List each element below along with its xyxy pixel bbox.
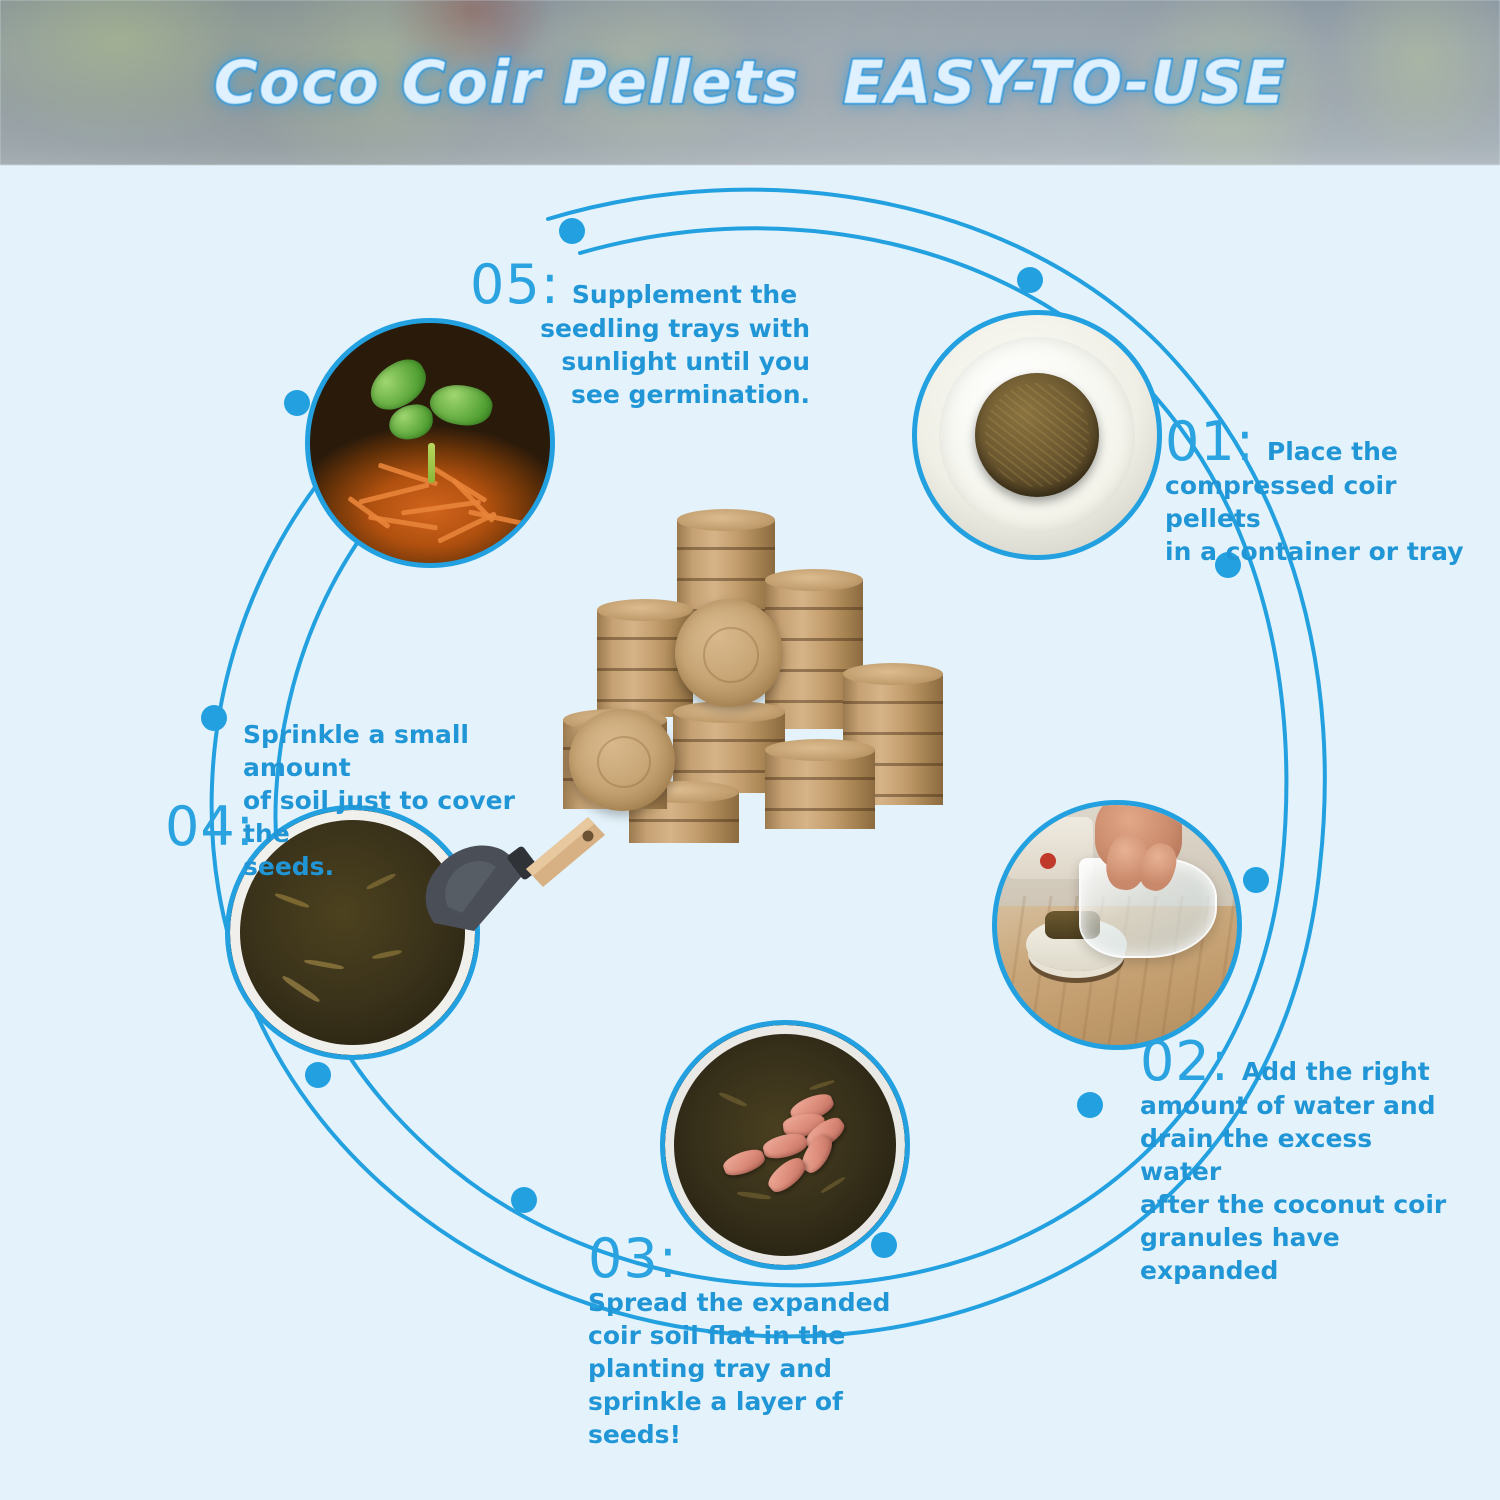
step-05-number: 05: [470, 258, 560, 312]
step-02-line-4: after the coconut coir [1140, 1188, 1460, 1221]
flow-dot-02-bottom [1077, 1092, 1103, 1118]
step-02-line-3: drain the excess water [1140, 1122, 1460, 1188]
banner-title-container: Coco Coir Pellets EASY-TO-USE [0, 0, 1500, 165]
step-photo-03-image [665, 1025, 905, 1265]
coir-pellet-stack [765, 739, 875, 829]
compressed-coir-pellet [975, 373, 1100, 498]
step-05-line-1: Supplement the [572, 278, 797, 311]
step-02-number: 02: [1140, 1035, 1230, 1089]
coir-pellet-disc [675, 599, 783, 707]
step-05-line-2: seedling trays with [470, 312, 810, 345]
step-03-line-4: sprinkle a layer of [588, 1385, 908, 1418]
step-01-text: 01: Place the compressed coir pellets in… [1165, 415, 1465, 568]
step-03-line-3: planting tray and [588, 1352, 908, 1385]
step-02-line-5: granules have [1140, 1221, 1460, 1254]
flow-dot-04-bottom [305, 1062, 331, 1088]
step-photo-02 [992, 800, 1242, 1050]
step-01-line-3: in a container or tray [1165, 535, 1465, 568]
step-02-line-2: amount of water and [1140, 1089, 1460, 1122]
step-03-line-5: seeds! [588, 1418, 908, 1451]
step-02-text: 02: Add the right amount of water and dr… [1140, 1035, 1460, 1287]
step-01-number: 01: [1165, 415, 1255, 469]
coir-pellet-disc [569, 709, 675, 811]
step-04-number: 04: [165, 800, 255, 854]
step-03-line-2: coir soil flat in the [588, 1319, 908, 1352]
flow-dot-05-top [559, 218, 585, 244]
step-01-line-2: compressed coir pellets [1165, 469, 1465, 535]
step-02-line-6: expanded [1140, 1254, 1460, 1287]
page-title: Coco Coir Pellets EASY-TO-USE [214, 48, 1287, 118]
step-02-line-1: Add the right [1242, 1055, 1430, 1088]
step-03-number: 03: [588, 1232, 908, 1286]
step-01-line-1: Place the [1267, 435, 1398, 468]
step-03-line-1: Spread the expanded [588, 1286, 908, 1319]
step-04-line-1: Sprinkle a small amount [165, 718, 565, 784]
center-product-image [565, 495, 985, 885]
step-photo-02-image [997, 805, 1237, 1045]
step-05-text: 05: Supplement the seedling trays with s… [470, 258, 810, 411]
step-05-line-3: sunlight until you [470, 345, 810, 378]
header-banner: Coco Coir Pellets EASY-TO-USE [0, 0, 1500, 165]
flow-dot-03-left [511, 1187, 537, 1213]
step-03-text: 03: Spread the expanded coir soil flat i… [588, 1232, 908, 1451]
flow-dot-01-top [1017, 267, 1043, 293]
flow-dot-05-left [284, 390, 310, 416]
step-05-line-4: see germination. [470, 378, 810, 411]
flow-dot-02-top [1243, 867, 1269, 893]
